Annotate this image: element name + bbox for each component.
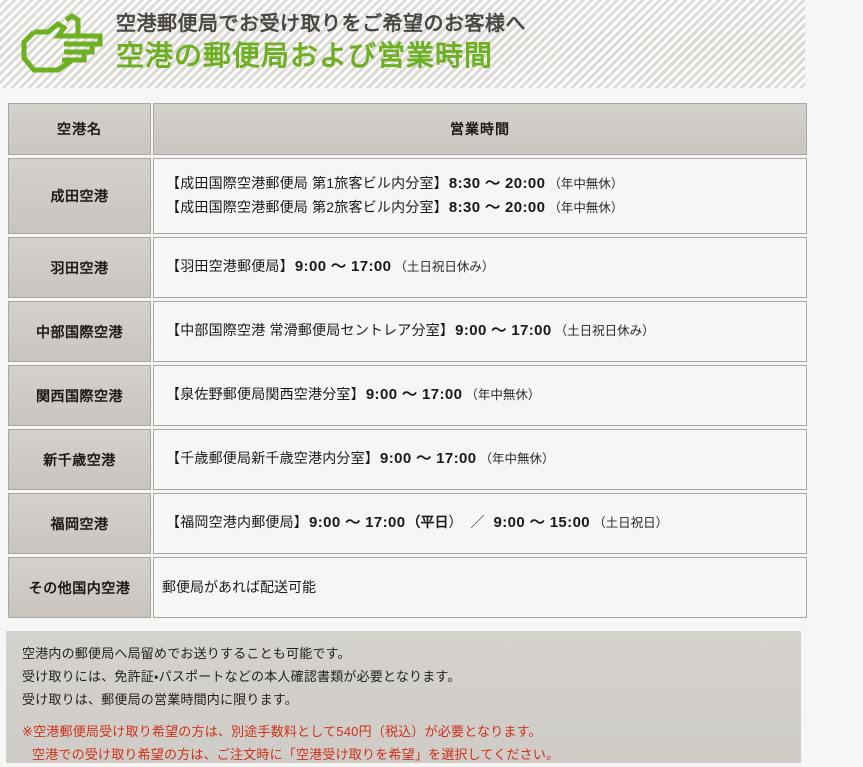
- opening-time: 9:00 〜 17:00: [455, 322, 552, 339]
- holiday-note: （土日祝日休み）: [394, 260, 494, 274]
- banner-subtitle: 空港郵便局でお受け取りをご希望のお客様へ: [116, 13, 526, 36]
- opening-time-weekend: 9:00 〜 15:00: [494, 514, 591, 531]
- notice-selection-instruction: 空港での受け取り希望の方は、ご注文時に「空港受け取りを希望」を選択してください。: [22, 744, 801, 767]
- opening-time: 9:00 〜 17:00: [366, 386, 463, 403]
- opening-time: 9:00 〜 17:00: [380, 450, 477, 467]
- table-row: 羽田空港 【羽田空港郵便局】9:00 〜 17:00（土日祝日休み）: [8, 237, 807, 298]
- hours-cell: 【羽田空港郵便局】9:00 〜 17:00（土日祝日休み）: [153, 237, 807, 298]
- separator-slash: ／: [471, 514, 485, 530]
- airport-name-cell: 成田空港: [8, 158, 151, 234]
- hours-cell: 郵便局があれば配送可能: [153, 557, 807, 618]
- holiday-note: （土日祝日休み）: [555, 324, 655, 338]
- holiday-note: （年中無休）: [480, 452, 555, 466]
- table-row: その他国内空港 郵便局があれば配送可能: [8, 557, 807, 618]
- hours-line: 【福岡空港内郵便局】9:00 〜 17:00（平日）／9:00 〜 15:00（…: [166, 511, 806, 535]
- holiday-note: （年中無休）: [548, 177, 623, 191]
- hours-line: 【成田国際空港郵便局 第2旅客ビル内分室】8:30 〜 20:00（年中無休）: [166, 196, 806, 220]
- hours-cell: 【成田国際空港郵便局 第1旅客ビル内分室】8:30 〜 20:00（年中無休） …: [153, 158, 807, 234]
- post-office-name: 【成田国際空港郵便局 第2旅客ビル内分室】: [166, 199, 448, 215]
- airport-name-cell: 新千歳空港: [8, 429, 151, 490]
- notice-line: 空港内の郵便局へ局留めでお送りすることも可能です。: [22, 643, 801, 666]
- table-header-row: 空港名 営業時間: [8, 103, 807, 155]
- airport-name-cell: 中部国際空港: [8, 301, 151, 362]
- table-row: 新千歳空港 【千歳郵便局新千歳空港内分室】9:00 〜 17:00（年中無休）: [8, 429, 807, 490]
- holiday-note: （年中無休）: [548, 201, 623, 215]
- hours-line: 【千歳郵便局新千歳空港内分室】9:00 〜 17:00（年中無休）: [166, 447, 806, 471]
- banner-inner: 空港郵便局でお受け取りをご希望のお客様へ 空港の郵便局および営業時間: [0, 0, 805, 88]
- delivery-note: 郵便局があれば配送可能: [162, 576, 806, 599]
- table-head: 空港名 営業時間: [8, 103, 807, 155]
- column-header-airport: 空港名: [8, 103, 151, 155]
- hours-cell: 【福岡空港内郵便局】9:00 〜 17:00（平日）／9:00 〜 15:00（…: [153, 493, 807, 554]
- hours-line: 【泉佐野郵便局関西空港分室】9:00 〜 17:00（年中無休）: [166, 383, 806, 407]
- airport-table-wrapper: 空港名 営業時間 成田空港 【成田国際空港郵便局 第1旅客ビル内分室】8:30 …: [6, 100, 801, 621]
- table-row: 成田空港 【成田国際空港郵便局 第1旅客ビル内分室】8:30 〜 20:00（年…: [8, 158, 807, 234]
- hours-cell: 【中部国際空港 常滑郵便局セントレア分室】9:00 〜 17:00（土日祝日休み…: [153, 301, 807, 362]
- opening-time-weekday: 9:00 〜 17:00: [309, 514, 406, 531]
- notice-fee-warning: ※空港郵便局受け取り希望の方は、別途手数料として540円（税込）が必要となります…: [22, 721, 801, 744]
- post-office-name: 【泉佐野郵便局関西空港分室】: [166, 386, 365, 402]
- hours-line: 【中部国際空港 常滑郵便局セントレア分室】9:00 〜 17:00（土日祝日休み…: [166, 319, 806, 343]
- airport-name-cell: 関西国際空港: [8, 365, 151, 426]
- airport-name-cell: その他国内空港: [8, 557, 151, 618]
- notice-panel: 空港内の郵便局へ局留めでお送りすることも可能です。 受け取りには、免許証・パスポ…: [6, 631, 801, 763]
- airport-hours-table: 空港名 営業時間 成田空港 【成田国際空港郵便局 第1旅客ビル内分室】8:30 …: [6, 100, 809, 621]
- opening-time: 9:00 〜 17:00: [295, 258, 392, 275]
- post-office-name: 【羽田空港郵便局】: [166, 258, 294, 274]
- opening-time: 8:30 〜 20:00: [449, 199, 546, 216]
- post-office-name: 【成田国際空港郵便局 第1旅客ビル内分室】: [166, 175, 448, 191]
- hours-cell: 【千歳郵便局新千歳空港内分室】9:00 〜 17:00（年中無休）: [153, 429, 807, 490]
- page-banner: 空港郵便局でお受け取りをご希望のお客様へ 空港の郵便局および営業時間: [0, 0, 805, 88]
- post-office-name: 【中部国際空港 常滑郵便局セントレア分室】: [166, 322, 454, 338]
- hours-line: 【成田国際空港郵便局 第1旅客ビル内分室】8:30 〜 20:00（年中無休）: [166, 172, 806, 196]
- weekday-label: （平日: [407, 514, 449, 530]
- hours-cell: 【泉佐野郵便局関西空港分室】9:00 〜 17:00（年中無休）: [153, 365, 807, 426]
- table-row: 関西国際空港 【泉佐野郵便局関西空港分室】9:00 〜 17:00（年中無休）: [8, 365, 807, 426]
- table-row: 福岡空港 【福岡空港内郵便局】9:00 〜 17:00（平日）／9:00 〜 1…: [8, 493, 807, 554]
- notice-line: 受け取りは、郵便局の営業時間内に限ります。: [22, 689, 801, 712]
- table-row: 中部国際空港 【中部国際空港 常滑郵便局セントレア分室】9:00 〜 17:00…: [8, 301, 807, 362]
- weekday-label-tail: ）: [449, 514, 463, 530]
- banner-title: 空港の郵便局および営業時間: [116, 39, 526, 73]
- table-body: 成田空港 【成田国際空港郵便局 第1旅客ビル内分室】8:30 〜 20:00（年…: [8, 158, 807, 618]
- hours-line: 【羽田空港郵便局】9:00 〜 17:00（土日祝日休み）: [166, 255, 806, 279]
- notice-line: 受け取りには、免許証・パスポートなどの本人確認書類が必要となります。: [22, 666, 801, 689]
- banner-text-block: 空港郵便局でお受け取りをご希望のお客様へ 空港の郵便局および営業時間: [116, 13, 526, 75]
- airport-name-cell: 羽田空港: [8, 237, 151, 298]
- holiday-note: （年中無休）: [465, 388, 540, 402]
- weekend-label: （土日祝日）: [593, 516, 668, 530]
- column-header-hours: 営業時間: [153, 103, 807, 155]
- post-office-name: 【福岡空港内郵便局】: [166, 514, 308, 530]
- post-office-name: 【千歳郵便局新千歳空港内分室】: [166, 450, 379, 466]
- pointing-hand-icon: [14, 10, 110, 82]
- airport-name-cell: 福岡空港: [8, 493, 151, 554]
- opening-time: 8:30 〜 20:00: [449, 175, 546, 192]
